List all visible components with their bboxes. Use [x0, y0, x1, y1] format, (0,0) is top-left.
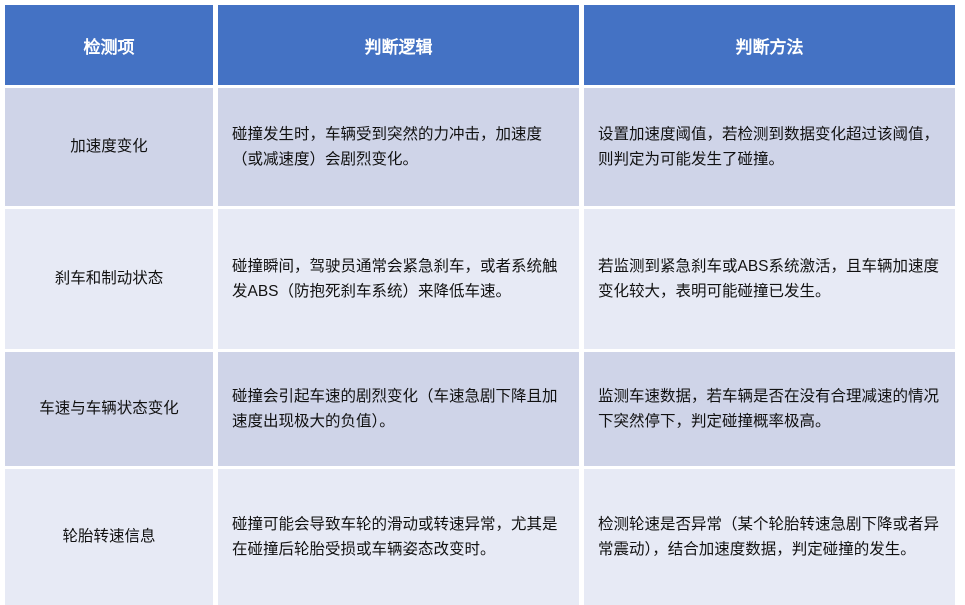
cell-text: 碰撞发生时，车辆受到突然的力冲击，加速度（或减速度）会剧烈变化。: [232, 122, 567, 172]
cell-detection-item: 轮胎转速信息: [5, 469, 218, 605]
cell-judgment-logic: 碰撞会引起车速的剧烈变化（车速急剧下降且加速度出现极大的负值）。: [218, 352, 584, 469]
cell-text: 监测车速数据，若车辆是否在没有合理减速的情况下突然停下，判定碰撞概率极高。: [598, 384, 943, 434]
cell-detection-item: 刹车和制动状态: [5, 209, 218, 352]
table-row: 刹车和制动状态 碰撞瞬间，驾驶员通常会紧急刹车，或者系统触发ABS（防抱死刹车系…: [5, 209, 955, 352]
cell-text: 设置加速度阈值，若检测到数据变化超过该阈值，则判定为可能发生了碰撞。: [598, 122, 943, 172]
table-row: 加速度变化 碰撞发生时，车辆受到突然的力冲击，加速度（或减速度）会剧烈变化。 设…: [5, 88, 955, 209]
collision-detection-table: 检测项 判断逻辑 判断方法 加速度变化 碰撞发生时，车辆受到突然的力冲击，加速度…: [5, 5, 955, 605]
cell-text: 检测轮速是否异常（某个轮胎转速急剧下降或者异常震动），结合加速度数据，判定碰撞的…: [598, 512, 943, 562]
table-header: 检测项 判断逻辑 判断方法: [5, 5, 955, 88]
table-body: 加速度变化 碰撞发生时，车辆受到突然的力冲击，加速度（或减速度）会剧烈变化。 设…: [5, 88, 955, 605]
cell-judgment-method: 监测车速数据，若车辆是否在没有合理减速的情况下突然停下，判定碰撞概率极高。: [584, 352, 955, 469]
table-container: 检测项 判断逻辑 判断方法 加速度变化 碰撞发生时，车辆受到突然的力冲击，加速度…: [5, 5, 955, 531]
cell-text: 轮胎转速信息: [15, 524, 203, 549]
cell-judgment-logic: 碰撞发生时，车辆受到突然的力冲击，加速度（或减速度）会剧烈变化。: [218, 88, 584, 209]
cell-text: 碰撞瞬间，驾驶员通常会紧急刹车，或者系统触发ABS（防抱死刹车系统）来降低车速。: [232, 254, 567, 304]
cell-judgment-method: 检测轮速是否异常（某个轮胎转速急剧下降或者异常震动），结合加速度数据，判定碰撞的…: [584, 469, 955, 605]
cell-judgment-method: 若监测到紧急刹车或ABS系统激活，且车辆加速度变化较大，表明可能碰撞已发生。: [584, 209, 955, 352]
table-row: 轮胎转速信息 碰撞可能会导致车轮的滑动或转速异常，尤其是在碰撞后轮胎受损或车辆姿…: [5, 469, 955, 605]
cell-detection-item: 车速与车辆状态变化: [5, 352, 218, 469]
column-header-logic: 判断逻辑: [218, 5, 584, 88]
column-header-method: 判断方法: [584, 5, 955, 88]
cell-text: 若监测到紧急刹车或ABS系统激活，且车辆加速度变化较大，表明可能碰撞已发生。: [598, 254, 943, 304]
cell-text: 车速与车辆状态变化: [15, 396, 203, 421]
table-row: 车速与车辆状态变化 碰撞会引起车速的剧烈变化（车速急剧下降且加速度出现极大的负值…: [5, 352, 955, 469]
cell-text: 碰撞会引起车速的剧烈变化（车速急剧下降且加速度出现极大的负值）。: [232, 384, 567, 434]
cell-text: 加速度变化: [15, 134, 203, 159]
cell-text: 碰撞可能会导致车轮的滑动或转速异常，尤其是在碰撞后轮胎受损或车辆姿态改变时。: [232, 512, 567, 562]
cell-detection-item: 加速度变化: [5, 88, 218, 209]
cell-judgment-logic: 碰撞瞬间，驾驶员通常会紧急刹车，或者系统触发ABS（防抱死刹车系统）来降低车速。: [218, 209, 584, 352]
cell-judgment-method: 设置加速度阈值，若检测到数据变化超过该阈值，则判定为可能发生了碰撞。: [584, 88, 955, 209]
column-header-item: 检测项: [5, 5, 218, 88]
cell-text: 刹车和制动状态: [15, 266, 203, 291]
cell-judgment-logic: 碰撞可能会导致车轮的滑动或转速异常，尤其是在碰撞后轮胎受损或车辆姿态改变时。: [218, 469, 584, 605]
table-header-row: 检测项 判断逻辑 判断方法: [5, 5, 955, 88]
